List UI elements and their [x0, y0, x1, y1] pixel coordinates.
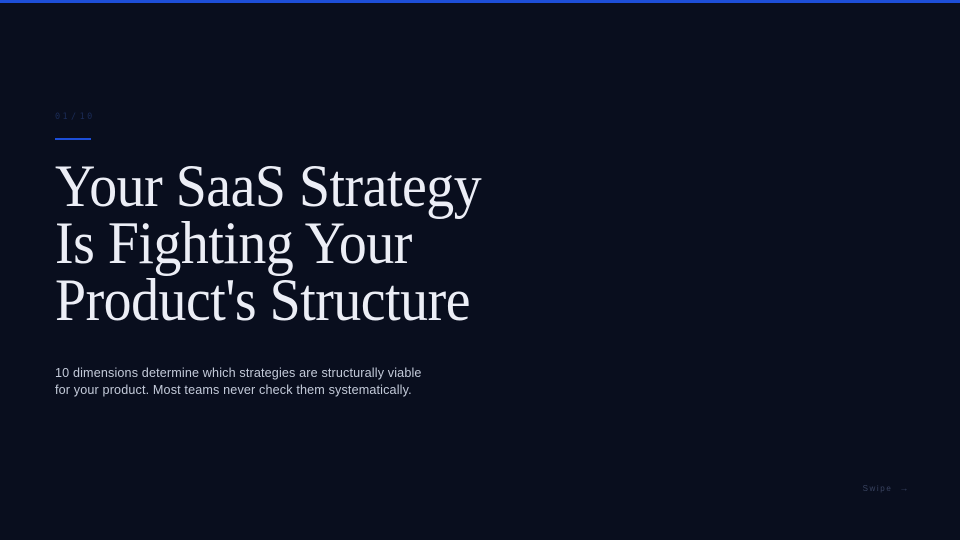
swipe-hint-label: Swipe: [863, 484, 893, 493]
slide-counter-separator: /: [70, 112, 80, 122]
headline-line-1: Your SaaS Strategy: [55, 158, 455, 215]
headline-line-3: Product's Structure: [55, 272, 455, 329]
slide-root: 01/10 Your SaaS Strategy Is Fighting You…: [0, 0, 960, 540]
headline-line-2: Is Fighting Your: [55, 215, 455, 272]
slide-counter-current: 01: [55, 112, 70, 122]
subtitle-text: 10 dimensions determine which strategies…: [55, 365, 440, 399]
arrow-right-icon: →: [899, 484, 910, 493]
slide-counter-total: 10: [80, 112, 95, 122]
page-title: Your SaaS Strategy Is Fighting Your Prod…: [55, 158, 455, 329]
top-accent-bar: [0, 0, 960, 3]
slide-counter: 01/10: [55, 110, 485, 124]
slide-content: 01/10 Your SaaS Strategy Is Fighting You…: [55, 110, 485, 399]
swipe-hint[interactable]: Swipe →: [863, 484, 910, 493]
counter-underline-rule: [55, 138, 91, 140]
